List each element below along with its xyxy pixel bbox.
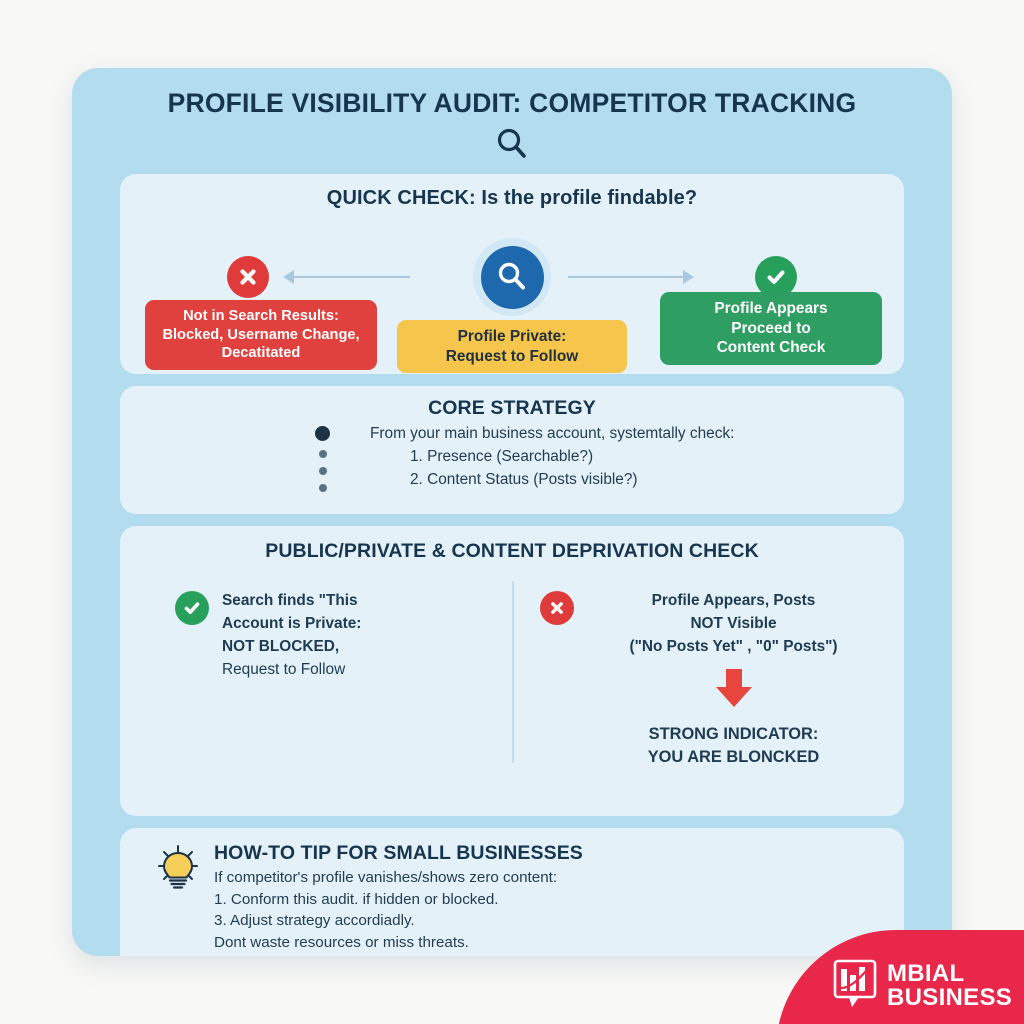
chip-profile-private: Profile Private: Request to Follow — [397, 320, 627, 373]
text-line: NOT BLOCKED, — [222, 635, 361, 658]
chip-line: Request to Follow — [405, 347, 619, 367]
text-line: If competitor's profile vanishes/shows z… — [214, 867, 904, 889]
text-line: YOU ARE BLONCKED — [587, 746, 880, 769]
quick-check-title: QUICK CHECK: Is the profile findable? — [120, 174, 904, 210]
quick-check-body: Not in Search Results: Blocked, Username… — [120, 210, 904, 360]
brand-line-2: BUSINESS — [887, 986, 1012, 1010]
public-private-right-body: Profile Appears, Posts NOT Visible ("No … — [587, 589, 880, 769]
page-title: PROFILE VISIBILITY AUDIT: COMPETITOR TRA… — [72, 88, 952, 119]
chip-line: Profile Appears — [668, 299, 874, 319]
arrow-right-head — [683, 270, 694, 284]
chip-not-in-search: Not in Search Results: Blocked, Username… — [145, 300, 377, 370]
text-line: 3. Adjust strategy accordiadly. — [214, 910, 904, 932]
how-to-tip-title: HOW-TO TIP FOR SMALL BUSINESSES — [214, 842, 904, 865]
chip-line: Decatitated — [153, 344, 369, 363]
arrow-right-line — [568, 276, 686, 278]
bullet-dots — [315, 426, 330, 492]
magnifier-icon — [481, 246, 544, 309]
x-circle-icon — [540, 591, 574, 625]
header-magnifier-icon — [72, 124, 952, 164]
how-to-tip-lines: If competitor's profile vanishes/shows z… — [214, 867, 904, 953]
chip-line: Content Check — [668, 338, 874, 358]
core-intro: From your main business account, systemt… — [370, 423, 830, 446]
arrow-left-line — [292, 276, 410, 278]
public-private-panel: PUBLIC/PRIVATE & CONTENT DEPRIVATION CHE… — [120, 526, 904, 816]
core-strategy-panel: CORE STRATEGY From your main business ac… — [120, 386, 904, 514]
how-to-tip-panel: HOW-TO TIP FOR SMALL BUSINESSES If compe… — [120, 828, 904, 956]
public-private-body: Search finds "This Account is Private: N… — [120, 563, 904, 803]
text-line: Profile Appears, Posts — [587, 589, 880, 612]
quick-check-panel: QUICK CHECK: Is the profile findable? — [120, 174, 904, 374]
x-circle-icon — [227, 256, 269, 298]
down-arrow-icon — [712, 667, 756, 714]
core-strategy-body: From your main business account, systemt… — [120, 420, 904, 504]
brand-logo-inner: MBIAL BUSINESS — [832, 958, 1012, 1013]
text-line: Request to Follow — [222, 658, 361, 681]
arrow-left-head — [283, 270, 294, 284]
chart-bubble-icon — [832, 958, 878, 1013]
brand-line-1: MBIAL — [887, 962, 1012, 986]
public-private-left-text: Search finds "This Account is Private: N… — [222, 589, 361, 681]
core-strategy-text: From your main business account, systemt… — [370, 423, 830, 491]
how-to-tip-content: HOW-TO TIP FOR SMALL BUSINESSES If compe… — [214, 842, 904, 953]
text-line: Search finds "This — [222, 589, 361, 612]
dot-small — [319, 450, 327, 458]
core-strategy-title: CORE STRATEGY — [120, 386, 904, 420]
public-private-title: PUBLIC/PRIVATE & CONTENT DEPRIVATION CHE… — [120, 526, 904, 563]
lightbulb-icon — [156, 842, 200, 953]
chip-profile-appears: Profile Appears Proceed to Content Check — [660, 292, 882, 365]
public-private-left-column: Search finds "This Account is Private: N… — [175, 589, 495, 681]
text-line: 1. Conform this audit. if hidden or bloc… — [214, 889, 904, 911]
center-search-badge — [473, 238, 551, 316]
header: PROFILE VISIBILITY AUDIT: COMPETITOR TRA… — [72, 88, 952, 164]
chip-line: Proceed to — [668, 319, 874, 339]
text-line: STRONG INDICATOR: — [587, 723, 880, 746]
chip-line: Not in Search Results: — [153, 307, 369, 326]
text-line: ("No Posts Yet" , "0" Posts") — [587, 635, 880, 658]
infographic-canvas: PROFILE VISIBILITY AUDIT: COMPETITOR TRA… — [0, 0, 1024, 1024]
public-private-right-text: Profile Appears, Posts NOT Visible ("No … — [587, 589, 880, 658]
text-line: Account is Private: — [222, 612, 361, 635]
brand-logo-text: MBIAL BUSINESS — [887, 962, 1012, 1010]
text-line: Dont waste resources or miss threats. — [214, 932, 904, 954]
dot-large — [315, 426, 330, 441]
infographic-card: PROFILE VISIBILITY AUDIT: COMPETITOR TRA… — [72, 68, 952, 956]
column-divider — [512, 581, 514, 763]
chip-line: Blocked, Username Change, — [153, 326, 369, 345]
how-to-tip-row: HOW-TO TIP FOR SMALL BUSINESSES If compe… — [120, 828, 904, 953]
public-private-conclusion: STRONG INDICATOR: YOU ARE BLONCKED — [587, 723, 880, 768]
dot-small — [319, 484, 327, 492]
core-item: 2. Content Status (Posts visible?) — [370, 469, 830, 492]
text-line: NOT Visible — [587, 612, 880, 635]
dot-small — [319, 467, 327, 475]
core-item: 1. Presence (Searchable?) — [370, 446, 830, 469]
public-private-right-column: Profile Appears, Posts NOT Visible ("No … — [540, 589, 880, 769]
chip-line: Profile Private: — [405, 327, 619, 347]
check-circle-icon — [175, 591, 209, 625]
